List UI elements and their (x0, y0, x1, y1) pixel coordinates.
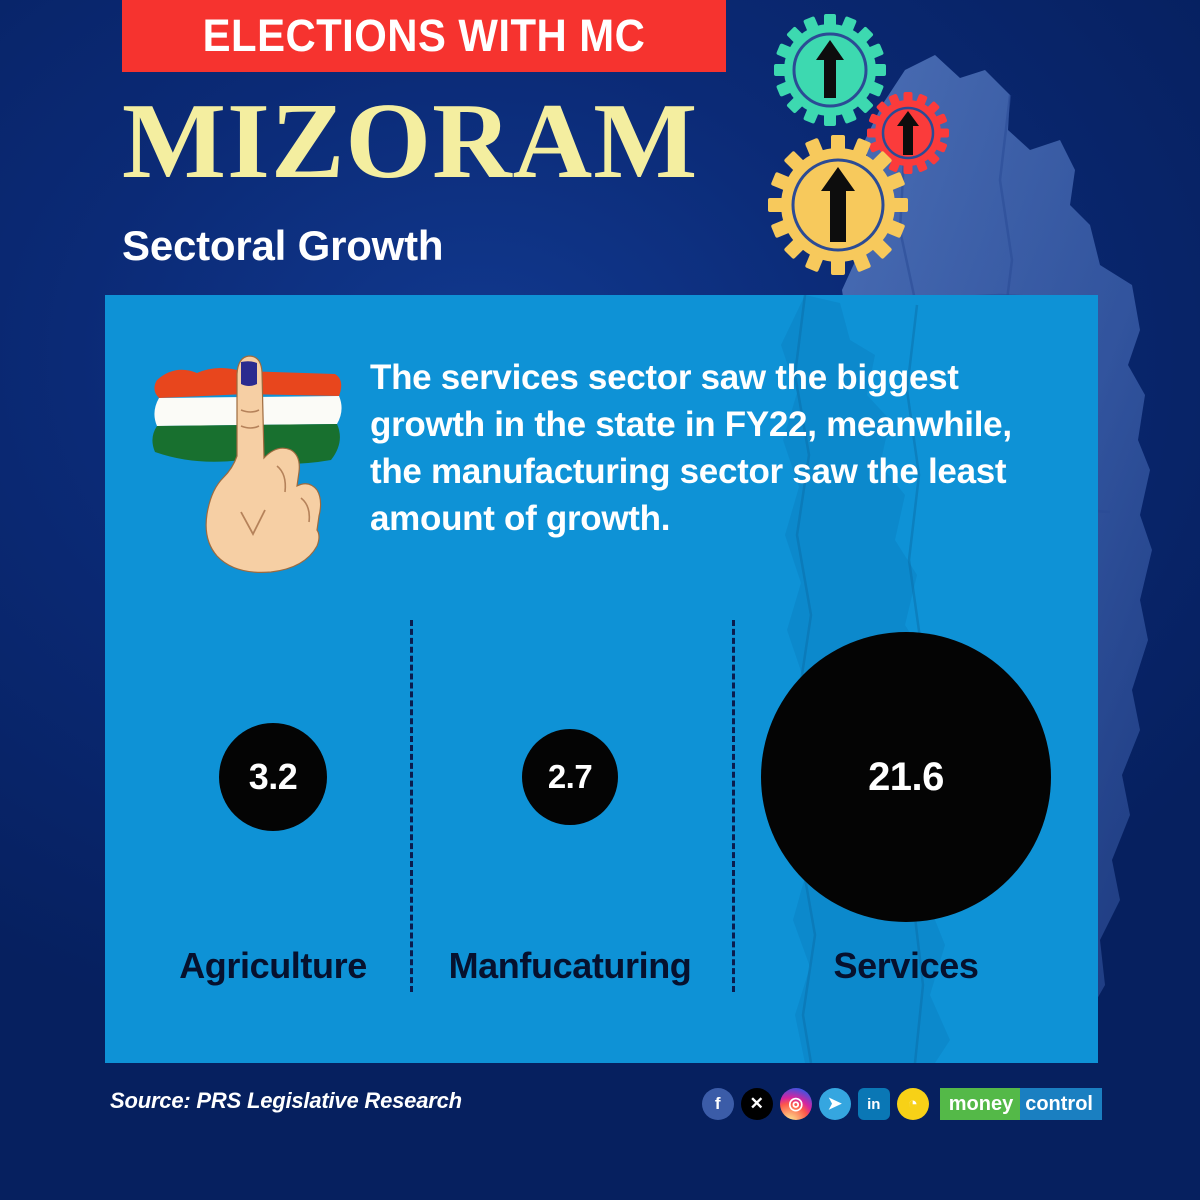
x-twitter-icon[interactable]: ✕ (741, 1088, 773, 1120)
banner-elections-with-mc: ELECTIONS WITH MC (122, 0, 726, 72)
instagram-icon[interactable]: ◎ (780, 1088, 812, 1120)
gear-teal-icon (774, 14, 886, 126)
snapchat-icon[interactable]: ◔ (897, 1088, 929, 1120)
social-links: f ✕ ◎ ➤ in ◔ money control (702, 1088, 1102, 1120)
gears-group (760, 10, 970, 280)
linkedin-icon[interactable]: in (858, 1088, 890, 1120)
bubble-value-manufacturing: 2.7 (548, 758, 592, 796)
bubble-agriculture: 3.2 (219, 723, 327, 831)
gear-yellow-icon (768, 135, 908, 275)
moneycontrol-logo[interactable]: money control (940, 1088, 1102, 1120)
page-subtitle: Sectoral Growth (122, 222, 443, 270)
facebook-icon[interactable]: f (702, 1088, 734, 1120)
logo-control-text: control (1020, 1088, 1102, 1120)
page-title: MIZORAM (122, 88, 698, 196)
logo-money-text: money (940, 1088, 1020, 1120)
column-divider-1 (410, 620, 413, 992)
category-label-manufacturing: Manfucaturing (440, 945, 700, 987)
infographic-canvas: ELECTIONS WITH MC MIZORAM Sectoral Growt… (0, 0, 1200, 1200)
column-divider-2 (732, 620, 735, 992)
category-label-agriculture: Agriculture (143, 945, 403, 987)
source-credit: Source: PRS Legislative Research (110, 1088, 462, 1114)
bubble-value-agriculture: 3.2 (249, 756, 298, 798)
headline-blurb: The services sector saw the biggest grow… (370, 355, 1070, 543)
content-panel: The services sector saw the biggest grow… (105, 295, 1098, 1063)
bubble-manufacturing: 2.7 (522, 729, 618, 825)
banner-label: ELECTIONS WITH MC (203, 10, 646, 62)
inked-finger-hand-icon (145, 340, 360, 575)
category-label-services: Services (776, 945, 1036, 987)
telegram-icon[interactable]: ➤ (819, 1088, 851, 1120)
bubble-value-services: 21.6 (868, 755, 944, 800)
bubble-services: 21.6 (761, 632, 1051, 922)
